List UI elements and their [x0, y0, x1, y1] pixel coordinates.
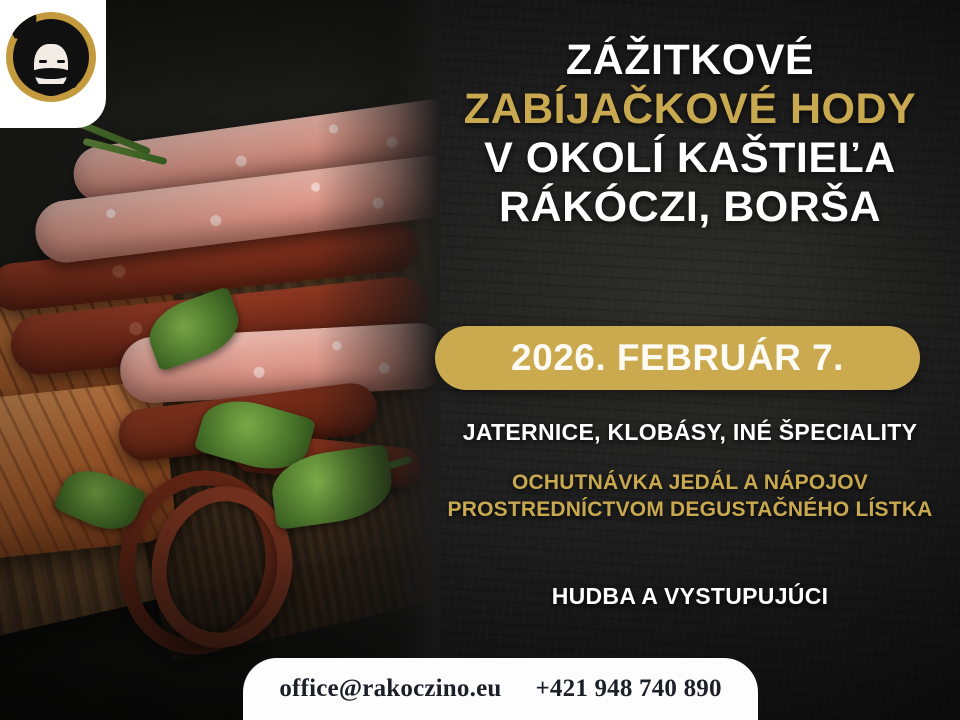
contact-email[interactable]: office@rakoczino.eu: [279, 675, 501, 703]
rakoczi-emblem-icon: [6, 12, 96, 102]
emblem-eye-left: [39, 60, 47, 63]
logo-panel: [0, 0, 106, 128]
date-badge-text: 2026. FEBRUÁR 7.: [511, 337, 844, 379]
poster-content: ZÁŽITKOVÉ ZABÍJAČKOVÉ HODY V OKOLÍ KAŠTI…: [420, 0, 960, 720]
tagline-music: HUDBA A VYSTUPUJÚCI: [420, 583, 960, 610]
event-poster: ZÁŽITKOVÉ ZABÍJAČKOVÉ HODY V OKOLÍ KAŠTI…: [0, 0, 960, 720]
date-badge: 2026. FEBRUÁR 7.: [435, 326, 920, 390]
contact-bar: office@rakoczino.eu +421 948 740 890: [243, 658, 758, 720]
emblem-eye-right: [57, 60, 65, 63]
emblem-mustache: [30, 68, 72, 79]
emblem-chin: [39, 84, 63, 96]
headline-block: ZÁŽITKOVÉ ZABÍJAČKOVÉ HODY V OKOLÍ KAŠTI…: [420, 38, 960, 235]
tagline-tasting: OCHUTNÁVKA JEDÁL A NÁPOJOV PROSTREDNÍCTV…: [420, 470, 960, 524]
contact-phone[interactable]: +421 948 740 890: [535, 675, 721, 703]
headline-line-3: V OKOLÍ KAŠTIEĽA: [420, 136, 960, 181]
headline-line-2: ZABÍJAČKOVÉ HODY: [420, 87, 960, 132]
headline-line-1: ZÁŽITKOVÉ: [420, 38, 960, 83]
tagline-specialties: JATERNICE, KLOBÁSY, INÉ ŠPECIALITY: [420, 419, 960, 446]
headline-line-4: RÁKÓCZI, BORŠA: [420, 185, 960, 230]
